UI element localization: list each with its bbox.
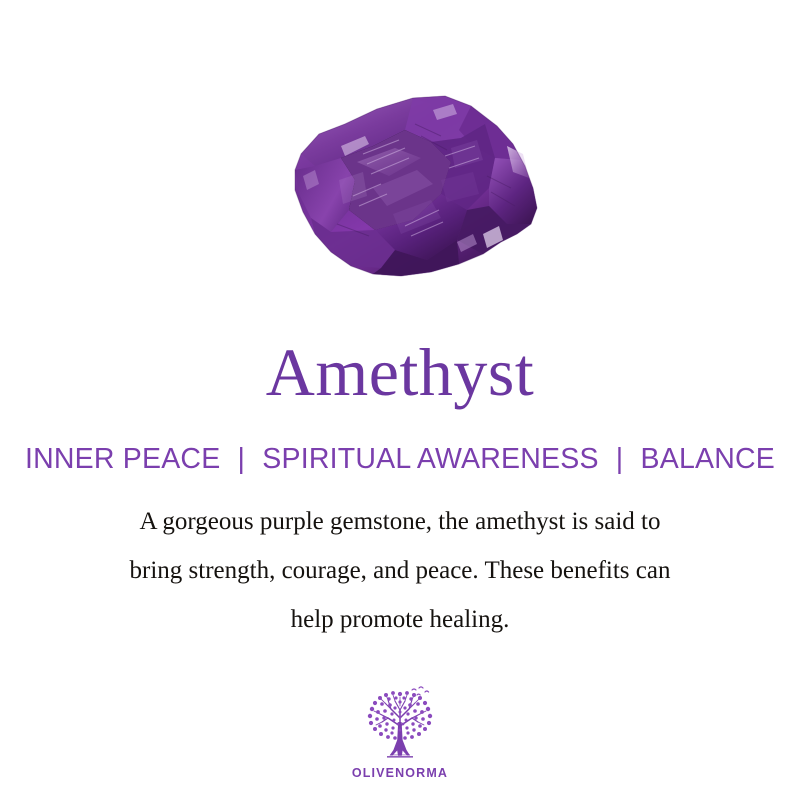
page-title: Amethyst bbox=[0, 336, 800, 408]
description-line: A gorgeous purple gemstone, the amethyst… bbox=[50, 497, 750, 546]
brand-wordmark: OLIVENORMA bbox=[352, 766, 448, 780]
keyword-list: INNER PEACE | SPIRITUAL AWARENESS | BALA… bbox=[0, 442, 800, 476]
brand-logo: OLIVENORMA bbox=[0, 684, 800, 780]
keyword-inner-peace: INNER PEACE bbox=[25, 443, 220, 475]
description-line: bring strength, courage, and peace. Thes… bbox=[50, 546, 750, 595]
keyword-balance: BALANCE bbox=[641, 443, 775, 475]
tree-of-life-icon bbox=[357, 684, 443, 764]
amethyst-crystal-icon bbox=[245, 84, 555, 296]
product-card: Amethyst INNER PEACE | SPIRITUAL AWARENE… bbox=[0, 0, 800, 800]
keyword-separator: | bbox=[607, 442, 633, 476]
gemstone-image-stage bbox=[0, 72, 800, 307]
product-description: A gorgeous purple gemstone, the amethyst… bbox=[50, 497, 750, 644]
description-line: help promote healing. bbox=[50, 595, 750, 644]
keyword-spiritual-awareness: SPIRITUAL AWARENESS bbox=[262, 443, 598, 475]
keyword-separator: | bbox=[229, 442, 255, 476]
